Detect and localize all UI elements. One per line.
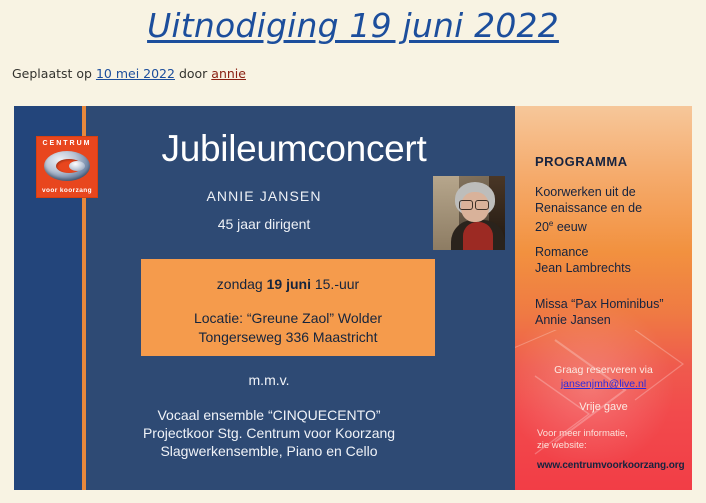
logo-swoosh-icon bbox=[44, 151, 90, 181]
event-time-suffix: 15.-uur bbox=[311, 276, 359, 292]
more-info-line-1: Voor meer informatie, bbox=[537, 428, 628, 440]
portrait-glasses-left-icon bbox=[459, 200, 473, 210]
event-date-strong: 19 juni bbox=[267, 276, 311, 292]
website-url: www.centrumvoorkoorzang.org bbox=[537, 460, 685, 471]
page-title: Uitnodiging 19 juni 2022 bbox=[0, 6, 706, 45]
poster-person-role: 45 jaar dirigent bbox=[99, 216, 429, 232]
program-item-2-line-1: Romance bbox=[535, 244, 631, 260]
poster-person-name: ANNIE JANSEN bbox=[99, 188, 429, 204]
free-entry-label: Vrije gave bbox=[515, 401, 692, 413]
program-item-2-line-2: Jean Lambrechts bbox=[535, 260, 631, 276]
reservation-email-link[interactable]: jansenjmh@live.nl bbox=[561, 378, 646, 390]
ensemble-line-2: Projectkoor Stg. Centrum voor Koorzang bbox=[54, 424, 484, 442]
concert-poster-image: CENTRUM voor koorzang Jubileumconcert AN… bbox=[14, 106, 692, 490]
ensemble-line-1: Vocaal ensemble “CINQUECENTO” bbox=[54, 406, 484, 424]
logo-top-text: CENTRUM bbox=[37, 140, 97, 147]
event-venue: Locatie: “Greune Zaol” Wolder bbox=[141, 310, 435, 326]
century-word: eeuw bbox=[553, 220, 586, 234]
event-date-prefix: zondag bbox=[217, 276, 267, 292]
reservation-email-wrap: jansenjmh@live.nl bbox=[515, 378, 692, 390]
program-item-1: Koorwerken uit de Renaissance en de 20e … bbox=[535, 184, 642, 235]
program-item-3: Missa “Pax Hominibus” Annie Jansen bbox=[535, 296, 664, 328]
poster-left-panel: CENTRUM voor koorzang Jubileumconcert AN… bbox=[14, 106, 515, 490]
conductor-portrait-photo bbox=[433, 176, 505, 250]
post-author-link[interactable]: annie bbox=[211, 66, 246, 81]
post-meta-prefix: Geplaatst op bbox=[12, 66, 96, 81]
program-item-3-line-1: Missa “Pax Hominibus” bbox=[535, 296, 664, 312]
post-meta: Geplaatst op 10 mei 2022 door annie bbox=[12, 66, 246, 81]
program-item-1-line-2: Renaissance en de bbox=[535, 200, 642, 216]
program-item-3-line-2: Annie Jansen bbox=[535, 312, 664, 328]
more-info-text: Voor meer informatie, zie website: bbox=[537, 428, 628, 452]
ensemble-line-3: Slagwerkensemble, Piano en Cello bbox=[54, 442, 484, 460]
centrum-voor-koorzang-logo-icon: CENTRUM voor koorzang bbox=[36, 136, 98, 198]
event-details-box: zondag 19 juni 15.-uur Locatie: “Greune … bbox=[141, 259, 435, 356]
poster-headline: Jubileumconcert bbox=[99, 128, 489, 170]
reservation-label: Graag reserveren via bbox=[515, 364, 692, 376]
program-item-1-line-3: 20e eeuw bbox=[535, 216, 642, 235]
post-meta-middle: door bbox=[175, 66, 211, 81]
program-item-2: Romance Jean Lambrechts bbox=[535, 244, 631, 276]
post-date-link[interactable]: 10 mei 2022 bbox=[96, 66, 175, 81]
program-title: PROGRAMMA bbox=[535, 154, 628, 169]
more-info-line-2: zie website: bbox=[537, 440, 628, 452]
poster-mmv-label: m.m.v. bbox=[74, 372, 464, 388]
century-number: 20 bbox=[535, 220, 549, 234]
program-item-1-line-1: Koorwerken uit de bbox=[535, 184, 642, 200]
poster-ensembles: Vocaal ensemble “CINQUECENTO” Projectkoo… bbox=[54, 406, 484, 460]
event-datetime: zondag 19 juni 15.-uur bbox=[141, 276, 435, 292]
poster-program-panel: PROGRAMMA Koorwerken uit de Renaissance … bbox=[515, 106, 692, 490]
portrait-scarf bbox=[463, 222, 493, 250]
event-address: Tongerseweg 336 Maastricht bbox=[141, 329, 435, 345]
portrait-glasses-right-icon bbox=[475, 200, 489, 210]
logo-bottom-text: voor koorzang bbox=[37, 187, 97, 194]
